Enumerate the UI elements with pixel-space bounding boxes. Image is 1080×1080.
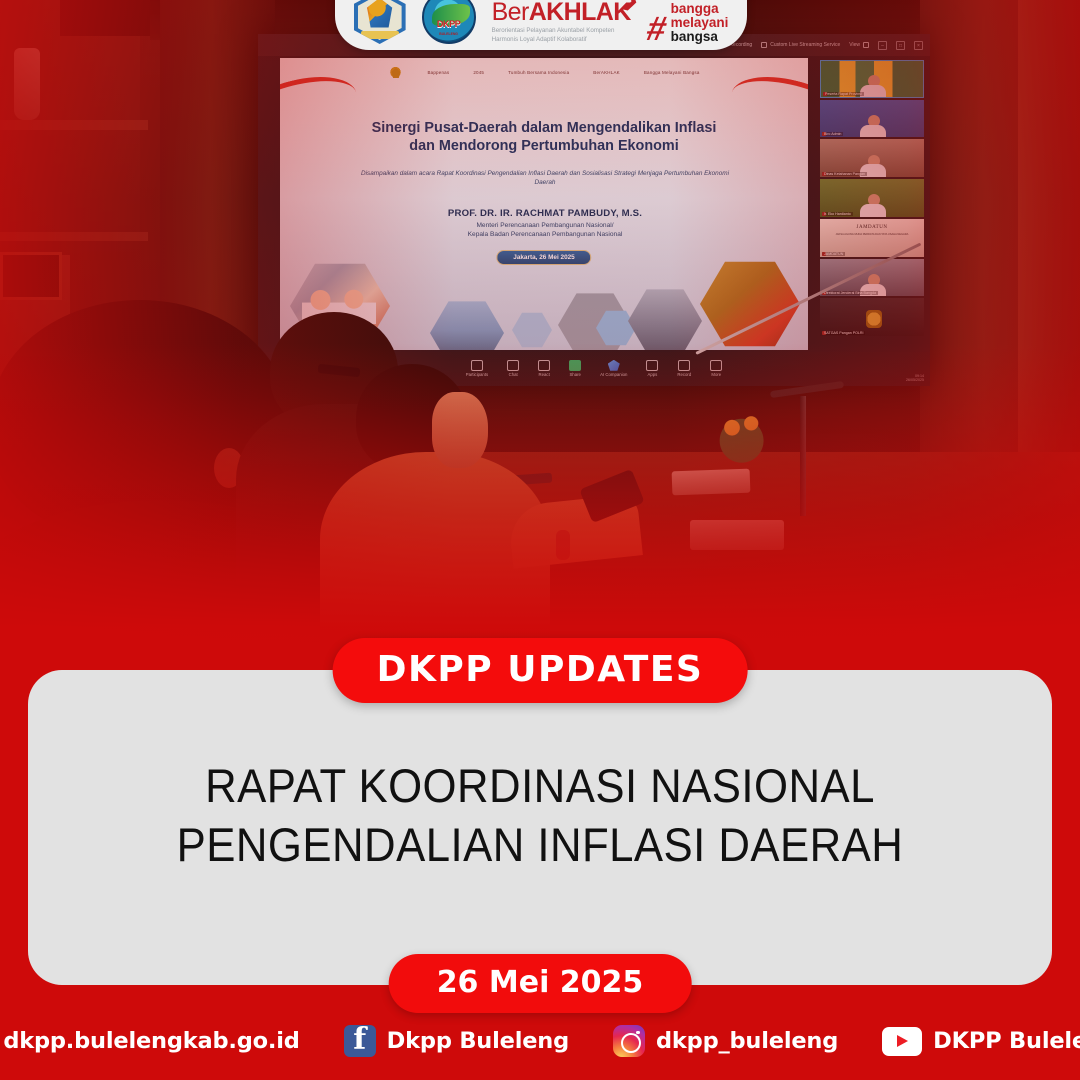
table-documents-2 xyxy=(690,520,784,550)
instagram-icon xyxy=(613,1025,645,1057)
view-menu[interactable]: View xyxy=(849,42,869,48)
share-screen-icon xyxy=(569,360,581,371)
dkpp-logo-icon: DKPP BULELENG xyxy=(422,0,476,44)
participant-tile[interactable]: Peserta Rapat Provinsi xyxy=(820,60,924,98)
participant-tile[interactable]: Dinas Ketahanan Pangan xyxy=(820,139,924,177)
participant-body xyxy=(860,125,886,138)
toolbar-participants-button[interactable]: Participants xyxy=(466,360,488,378)
toolbar-label: Chat xyxy=(509,372,518,377)
participant-name: Ir. Eko Hardianto xyxy=(822,212,853,216)
system-clock: 09:14 26/05/2025 xyxy=(906,374,924,382)
react-heart-icon xyxy=(538,360,550,371)
apps-icon xyxy=(646,360,658,371)
toolbar-label: Record xyxy=(677,372,691,377)
hex-accent-1 xyxy=(512,312,552,348)
page-title-line2: PENGENDALIAN INFLASI DAERAH xyxy=(120,815,961,874)
slide-speaker-role: Menteri Perencanaan Pembangunan Nasional… xyxy=(370,222,720,240)
toolbar-label: React xyxy=(539,372,550,377)
participant-name: Peserta Rapat Provinsi xyxy=(823,92,864,96)
footer-item-facebook[interactable]: Dkpp Buleleng xyxy=(344,1025,569,1057)
live-stream-indicator: Custom Live Streaming Service xyxy=(761,42,840,48)
footer-label: dkpp.bulelengkab.go.id xyxy=(3,1028,299,1054)
hex-photo-port xyxy=(430,300,504,350)
participant-name: Dinas Ketahanan Pangan xyxy=(822,172,867,176)
slide-logo-2045: 2045 xyxy=(473,71,484,76)
updates-badge: DKPP UPDATES xyxy=(333,638,748,703)
record-icon xyxy=(678,360,690,371)
berakhlak-akhlak: AKHLAK xyxy=(529,0,631,26)
participant-name: Biro Admin xyxy=(822,132,843,136)
berakhlak-tagline-line1: Berorientasi Pelayanan Akuntabel Kompete… xyxy=(492,27,631,35)
bangga-line2: melayani xyxy=(671,16,729,30)
footer-label: Dkpp Buleleng xyxy=(387,1028,569,1054)
toolbar-apps-button[interactable]: Apps xyxy=(646,360,658,378)
wall-panel-top xyxy=(60,0,150,36)
participant-tile[interactable]: Ir. Eko Hardianto xyxy=(820,179,924,217)
berakhlak-tagline-line2: Harmonis Loyal Adaptif Kolaboratif xyxy=(492,36,631,44)
wall-panel-left xyxy=(0,0,140,260)
shelf-lower xyxy=(0,232,148,241)
youtube-icon xyxy=(882,1027,922,1056)
jamdatun-subtitle: JAKSA AGUNG MUDA PERDATA DAN TATA USAHA … xyxy=(820,233,924,236)
slide-logo-berakhlak: BerAKHLAK xyxy=(593,71,620,76)
participant-name: JAMDATUN xyxy=(822,252,845,256)
page-title: RAPAT KOORDINASI NASIONAL PENGENDALIAN I… xyxy=(64,756,1016,874)
emblem-ribbon xyxy=(361,31,399,39)
toolbar-chat-button[interactable]: Chat xyxy=(507,360,519,378)
hash-icon: # xyxy=(644,16,669,44)
decorative-vase xyxy=(14,48,40,120)
slide-logo-row: Bappenas 2045 Tumbuh Bersama Indonesia B… xyxy=(280,60,808,86)
stream-icon xyxy=(761,42,767,48)
toolbar-label: Participants xyxy=(466,372,488,377)
berakhlak-ber: Ber xyxy=(492,0,529,26)
attendee-third-face xyxy=(432,392,488,468)
toolbar-label: Apps xyxy=(648,372,658,377)
berakhlak-wordmark: BerAKHLAK❯ xyxy=(492,0,631,25)
footer-label: DKPP Buleleng xyxy=(933,1028,1080,1054)
event-photo: Workplace Recording Custom Live Streamin… xyxy=(0,0,1080,660)
bangga-wordmark: bangga melayani bangsa xyxy=(671,2,729,44)
shelf-upper xyxy=(0,120,148,130)
toolbar-label: Share xyxy=(569,372,580,377)
footer-label: dkpp_buleleng xyxy=(656,1028,838,1054)
bangga-melayani-bangsa-logo: # bangga melayani bangsa xyxy=(647,2,729,44)
slide-location-pill: Jakarta, 26 Mei 2025 xyxy=(496,250,591,265)
slide-speaker-name: PROF. DR. IR. RACHMAT PAMBUDY, M.S. xyxy=(380,208,710,219)
berakhlak-tagline: Berorientasi Pelayanan Akuntabel Kompete… xyxy=(492,27,631,44)
microphone-stand xyxy=(800,396,806,516)
slide-logo-bangga: Bangga Melayani Bangsa xyxy=(644,71,700,76)
participants-icon xyxy=(471,360,483,371)
toolbar-more-button[interactable]: More xyxy=(710,360,722,378)
participant-name: Direktorat Jenderal Bina Bangda xyxy=(822,291,878,295)
footer-item-youtube[interactable]: DKPP Buleleng xyxy=(882,1027,1080,1056)
bangga-line3: bangsa xyxy=(671,30,729,44)
dkpp-logo-text: DKPP xyxy=(424,19,474,29)
footer-item-website[interactable]: dkpp.bulelengkab.go.id xyxy=(0,1026,300,1057)
dkpp-logo-subtext: BULELENG xyxy=(424,32,474,36)
jamdatun-title: JAMDATUN xyxy=(820,225,924,230)
social-footer: dkpp.bulelengkab.go.id Dkpp Buleleng dkp… xyxy=(0,1002,1080,1080)
toolbar-record-button[interactable]: Record xyxy=(677,360,691,378)
berakhlak-logo: BerAKHLAK❯ Berorientasi Pelayanan Akunta… xyxy=(492,0,631,44)
participant-tile[interactable]: Biro Admin xyxy=(820,100,924,138)
view-grid-icon xyxy=(863,42,869,48)
slide-title-line1: Sinergi Pusat-Daerah dalam Mengendalikan… xyxy=(314,120,774,138)
toolbar-react-button[interactable]: React xyxy=(538,360,550,378)
footer-item-instagram[interactable]: dkpp_buleleng xyxy=(613,1025,838,1057)
participant-tile[interactable]: Direktorat Jenderal Bina Bangda xyxy=(820,259,924,297)
close-button[interactable]: × xyxy=(914,41,923,50)
more-icon xyxy=(710,360,722,371)
toolbar-ai-companion-button[interactable]: AI Companion xyxy=(600,360,627,378)
slide-subtitle: Disampaikan dalam acara Rapat Koordinasi… xyxy=(350,170,740,187)
table-documents xyxy=(672,469,751,496)
clock-date: 26/05/2025 xyxy=(906,378,924,382)
speaker-role-line2: Kepala Badan Perencanaan Pembangunan Nas… xyxy=(370,231,720,240)
slide-title: Sinergi Pusat-Daerah dalam Mengendalikan… xyxy=(314,120,774,155)
slide-logo-tumbuh: Tumbuh Bersama Indonesia xyxy=(508,71,569,76)
table-flowers xyxy=(700,406,780,468)
chat-icon xyxy=(507,360,519,371)
attendee-bracelet xyxy=(556,530,570,560)
header-logo-bar: DKPP BULELENG BerAKHLAK❯ Berorientasi Pe… xyxy=(335,0,747,50)
hex-photo-city xyxy=(628,288,702,350)
page-title-line1: RAPAT KOORDINASI NASIONAL xyxy=(120,756,961,815)
wall-picture-frame xyxy=(0,252,62,300)
view-label: View xyxy=(849,42,860,48)
content-card: RAPAT KOORDINASI NASIONAL PENGENDALIAN I… xyxy=(28,670,1052,985)
slide-logo-bappenas: Bappenas xyxy=(427,71,449,76)
participant-name: SATGAS Pangan POLRI xyxy=(822,331,865,335)
speaker-role-line1: Menteri Perencanaan Pembangunan Nasional… xyxy=(370,222,720,231)
facebook-icon xyxy=(344,1025,376,1057)
participant-tile[interactable]: SATGAS Pangan POLRI xyxy=(820,298,924,336)
stream-label: Custom Live Streaming Service xyxy=(770,42,840,48)
toolbar-label: More xyxy=(711,372,721,377)
bali-provincial-emblem-icon xyxy=(354,0,406,44)
bangga-line1: bangga xyxy=(671,2,729,16)
toolbar-share-button[interactable]: Share xyxy=(569,360,581,378)
ai-companion-icon xyxy=(608,360,620,371)
participant-body xyxy=(860,204,886,217)
hex-photo-harvest xyxy=(700,260,800,348)
toolbar-label: AI Companion xyxy=(600,372,627,377)
maximize-button[interactable]: □ xyxy=(896,41,905,50)
garuda-icon xyxy=(388,65,403,81)
minimize-button[interactable]: – xyxy=(878,41,887,50)
slide-title-line2: dan Mendorong Pertumbuhan Ekonomi xyxy=(314,138,774,156)
shared-slide: Bappenas 2045 Tumbuh Bersama Indonesia B… xyxy=(280,58,808,350)
participant-video-strip: Peserta Rapat Provinsi Biro Admin Dinas … xyxy=(820,60,924,336)
